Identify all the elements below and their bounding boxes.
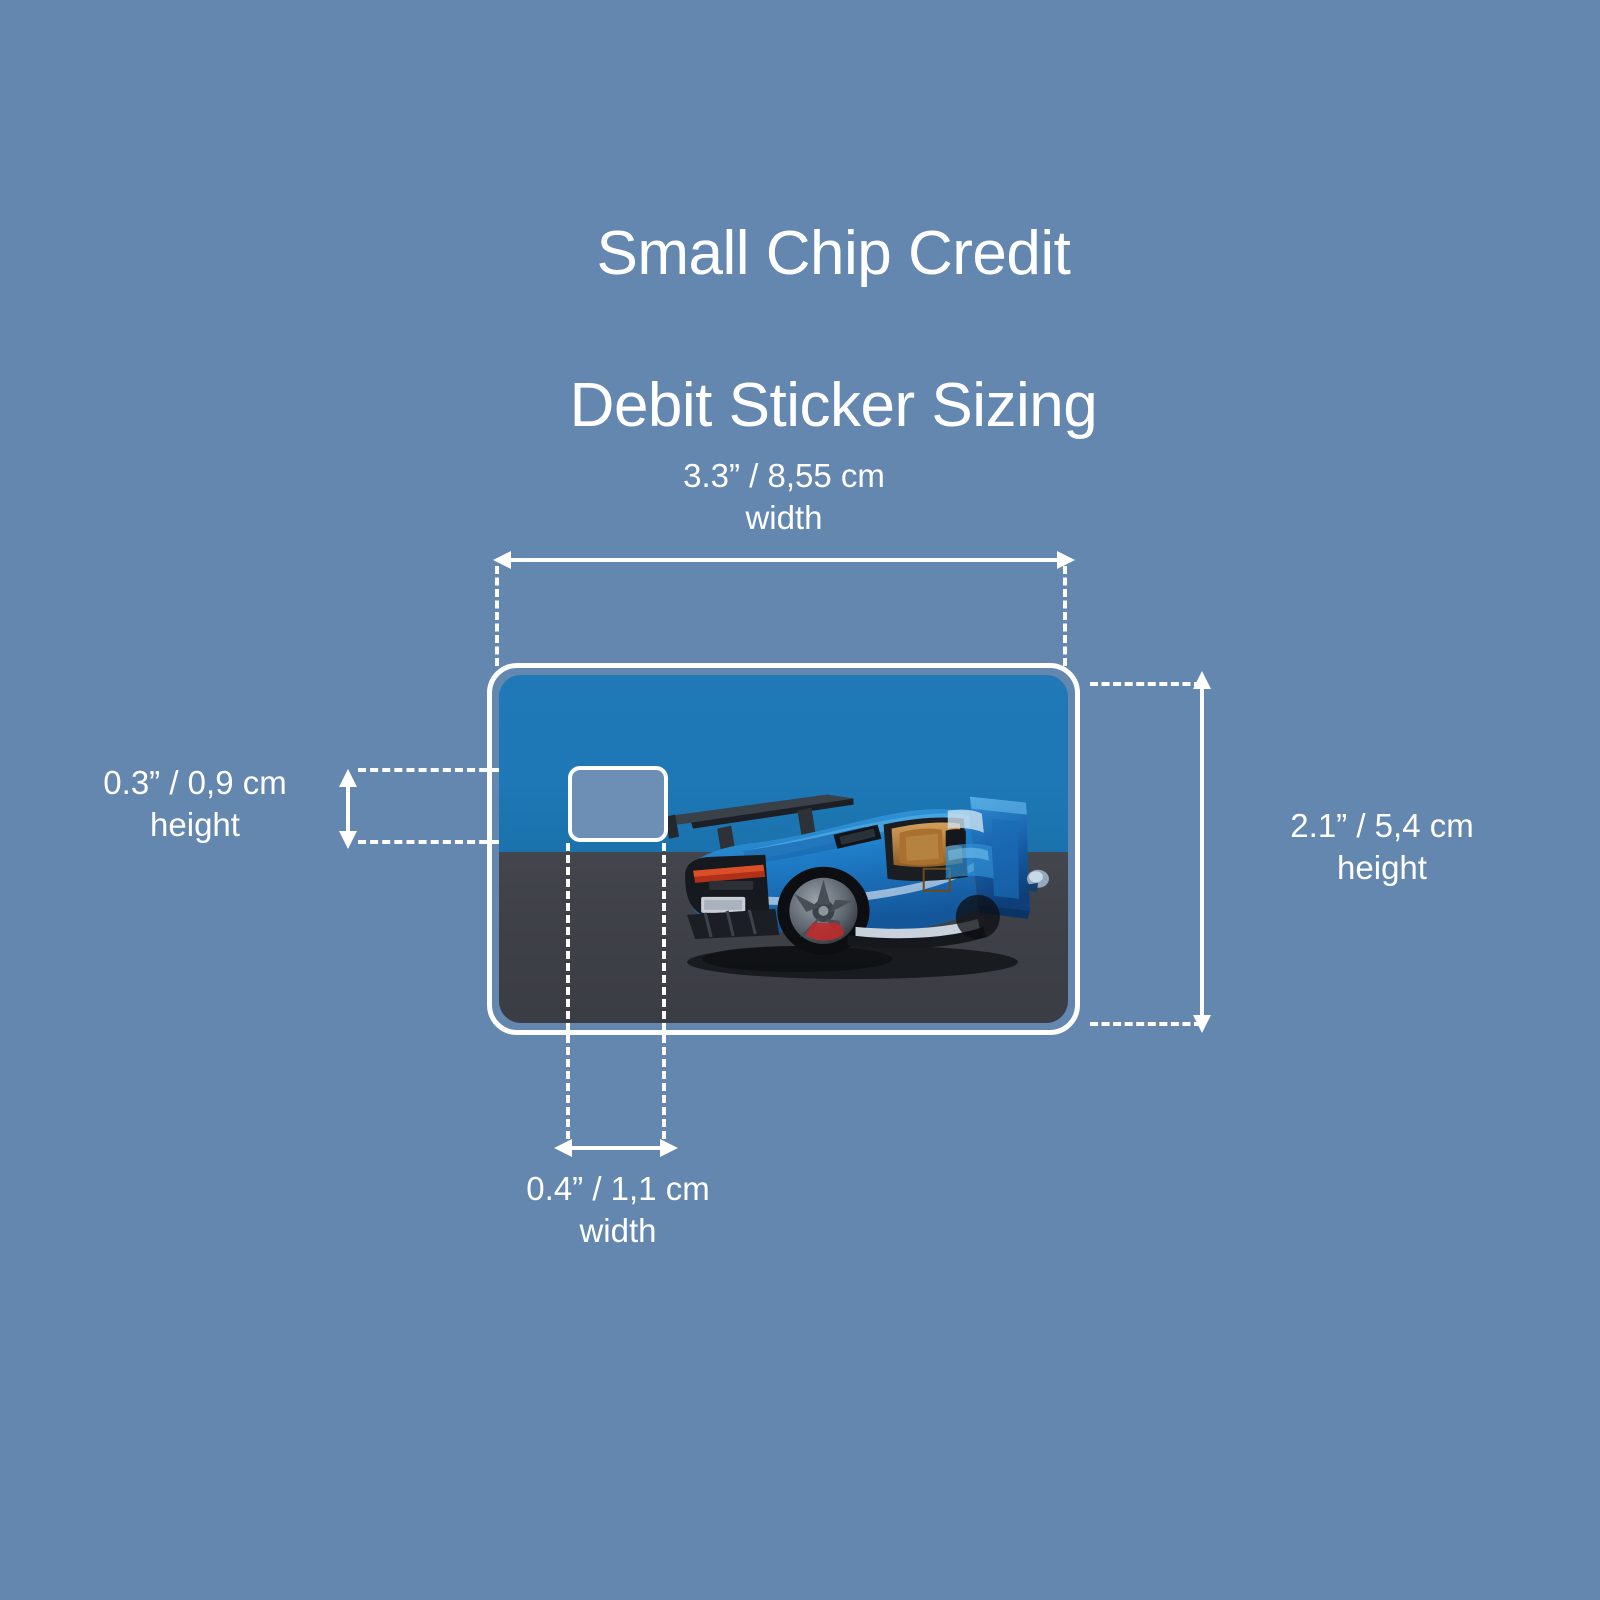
chip-width-unit: width xyxy=(458,1210,778,1252)
chip-height-unit: height xyxy=(60,804,330,846)
card-width-label: 3.3” / 8,55 cm width xyxy=(584,455,984,539)
sticker-artwork xyxy=(499,675,1068,1023)
card-height-value: 2.1” / 5,4 cm xyxy=(1290,807,1473,844)
chip-cutout xyxy=(568,766,668,842)
chip-height-value: 0.3” / 0,9 cm xyxy=(103,764,286,801)
chip-width-value: 0.4” / 1,1 cm xyxy=(526,1170,709,1207)
card-height-label: 2.1” / 5,4 cm height xyxy=(1222,805,1542,889)
card-width-unit: width xyxy=(584,497,984,539)
card-width-value: 3.3” / 8,55 cm xyxy=(683,457,885,494)
sticker-card xyxy=(487,663,1080,1035)
chip-height-label: 0.3” / 0,9 cm height xyxy=(60,762,330,846)
card-height-unit: height xyxy=(1222,847,1542,889)
card-width-extension-right xyxy=(1063,566,1067,666)
chip-width-extension-left xyxy=(566,843,570,1139)
card-height-extension-bottom xyxy=(1090,1022,1202,1026)
supercar-illustration xyxy=(647,752,1068,996)
page-title-line-2: Debit Sticker Sizing xyxy=(570,371,1098,440)
card-height-extension-top xyxy=(1090,682,1202,686)
page-title-line-1: Small Chip Credit xyxy=(597,219,1071,288)
chip-width-label: 0.4” / 1,1 cm width xyxy=(458,1168,778,1252)
sticker-sizing-diagram: Small Chip Credit Debit Sticker Sizing 3… xyxy=(0,0,1600,1600)
card-width-arrow xyxy=(491,546,1077,574)
card-width-extension-left xyxy=(495,566,499,666)
chip-width-arrow xyxy=(552,1134,680,1162)
chip-width-extension-right xyxy=(662,843,666,1139)
chip-height-arrow xyxy=(334,768,362,850)
card-height-arrow xyxy=(1188,670,1216,1034)
